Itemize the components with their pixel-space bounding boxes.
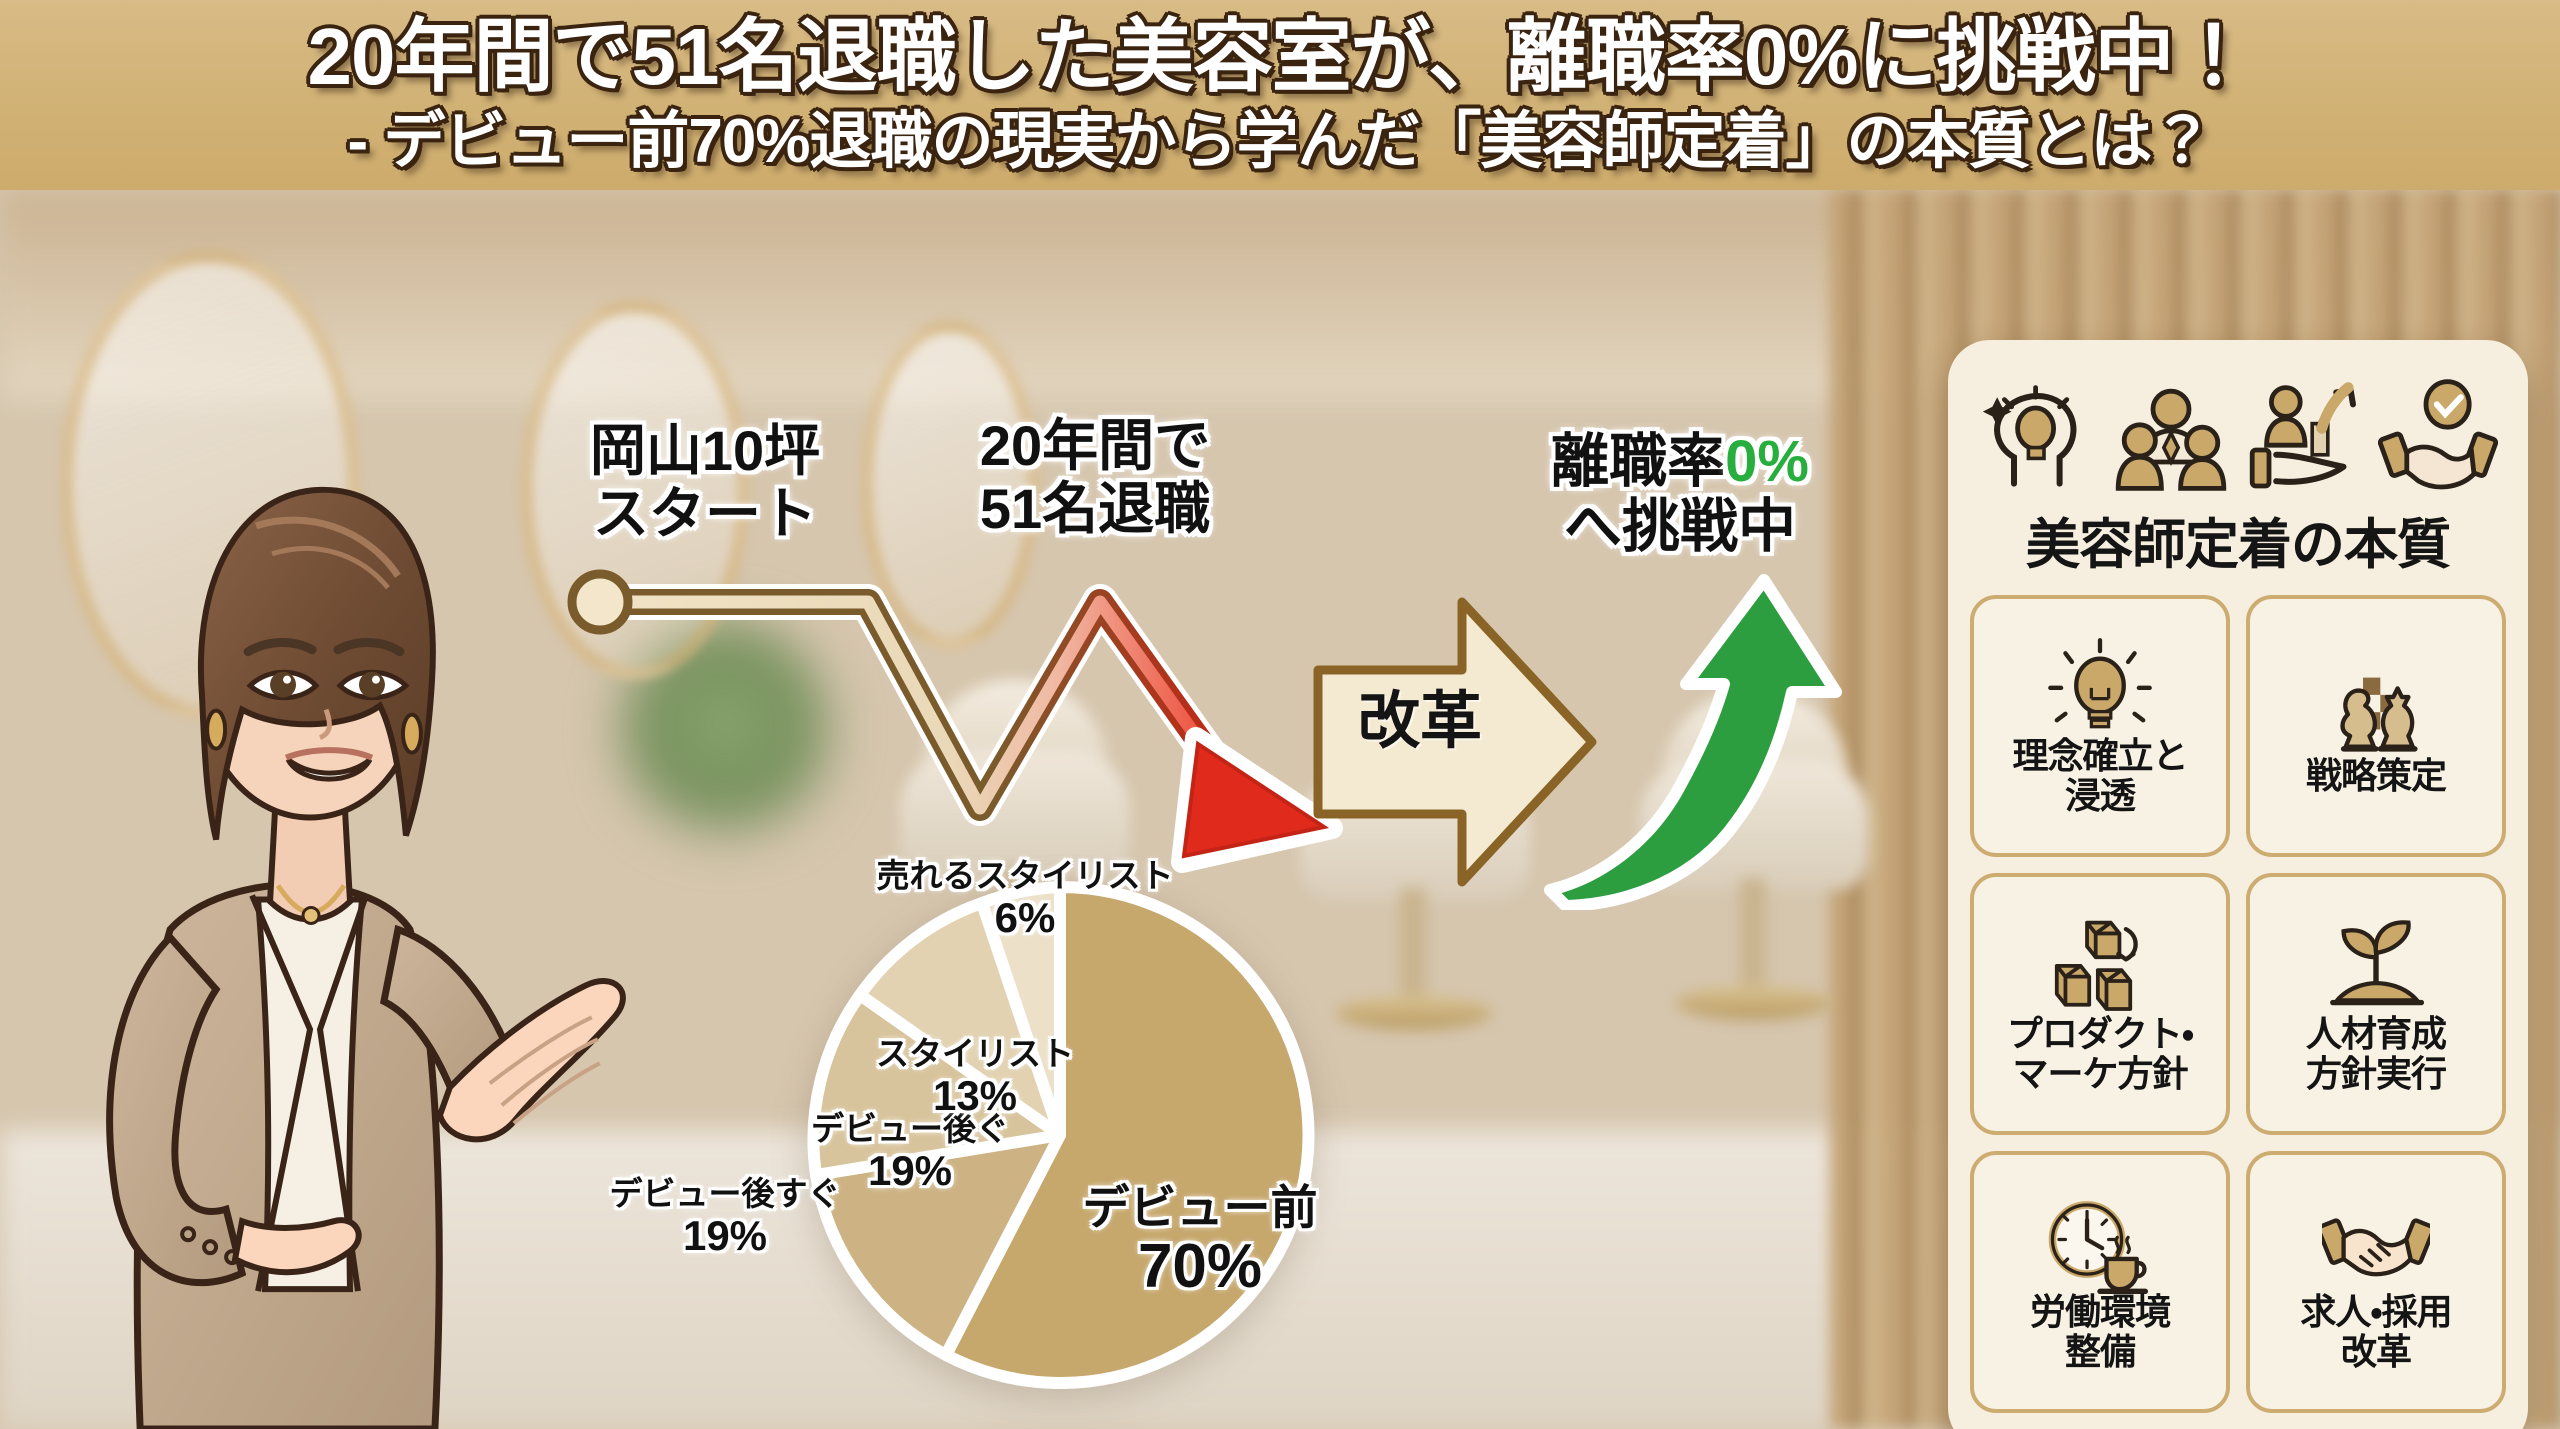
essence-cell-product[interactable]: プロダクト・ マーケ方針 xyxy=(1970,873,2230,1135)
header-band: 20年間で51名退職した美容室が、離職率0%に挑戦中！ - デビュー前70%退職… xyxy=(0,0,2560,190)
lightbulb-icon xyxy=(2046,636,2154,734)
callout-goal: 離職率0% へ挑戦中 xyxy=(1480,430,1880,560)
infographic-canvas: 改革 岡山10坪 スタート 20年間で 51名退職 離職率0% へ挑戦中 デビュ… xyxy=(0,0,2560,1429)
chess-icon xyxy=(2322,656,2430,754)
handshake-icon xyxy=(2322,1192,2430,1290)
goal-zero-value: 0% xyxy=(1725,429,1809,494)
essence-cell-philosophy[interactable]: 理念確立と 浸透 xyxy=(1970,595,2230,857)
callout-start: 岡山10坪 スタート xyxy=(540,420,870,545)
handshake-check-icon xyxy=(2378,378,2498,496)
essence-panel: 美容師定着の本質 理念確立と 浸透 xyxy=(1948,340,2528,1429)
essence-cell-label: 労働環境 整備 xyxy=(2030,1292,2170,1373)
panel-title: 美容師定着の本質 xyxy=(1970,500,2506,579)
lightbulb-head-icon xyxy=(1978,378,2098,496)
pie-label-debut-mae: デビュー前 70% xyxy=(1060,1130,1340,1353)
essence-cell-label: 戦略策定 xyxy=(2306,756,2446,796)
reform-label: 改革 xyxy=(1330,670,1510,760)
essence-cell-work-environment[interactable]: 労働環境 整備 xyxy=(1970,1151,2230,1413)
sprout-icon xyxy=(2322,914,2430,1012)
team-people-icon xyxy=(2111,378,2231,496)
goal-prefix: 離職率 xyxy=(1551,429,1725,494)
essence-cell-recruiting[interactable]: 求人・採用 改革 xyxy=(2246,1151,2506,1413)
essence-cell-label: 人材育成 方針実行 xyxy=(2306,1014,2446,1095)
page-title: 20年間で51名退職した美容室が、離職率0%に挑戦中！ xyxy=(308,11,2253,103)
pie-label-ureru-stylist: 売れるスタイリスト 6% xyxy=(860,822,1190,977)
panel-header-icons xyxy=(1970,366,2506,496)
growth-green-arrow xyxy=(1540,560,1900,910)
page-subtitle: - デビュー前70%退職の現実から学んだ「美容師定着」の本質とは？ xyxy=(348,105,2213,179)
pie-label-stylist: スタイリスト 13% xyxy=(860,1000,1090,1155)
essence-cell-label: 理念確立と 浸透 xyxy=(2012,736,2187,817)
goal-suffix: へ挑戦中 xyxy=(1564,494,1796,559)
boxes-icon xyxy=(2046,914,2154,1012)
hand-growth-icon xyxy=(2245,378,2365,496)
essence-grid: 理念確立と 浸透 戦略策定 xyxy=(1970,595,2506,1413)
callout-decline: 20年間で 51名退職 xyxy=(930,415,1260,540)
essence-cell-label: プロダクト・ マーケ方針 xyxy=(2007,1014,2193,1095)
essence-cell-strategy[interactable]: 戦略策定 xyxy=(2246,595,2506,857)
essence-cell-hr-development[interactable]: 人材育成 方針実行 xyxy=(2246,873,2506,1135)
clock-coffee-icon xyxy=(2046,1192,2154,1290)
essence-cell-label: 求人・採用 改革 xyxy=(2300,1292,2451,1373)
